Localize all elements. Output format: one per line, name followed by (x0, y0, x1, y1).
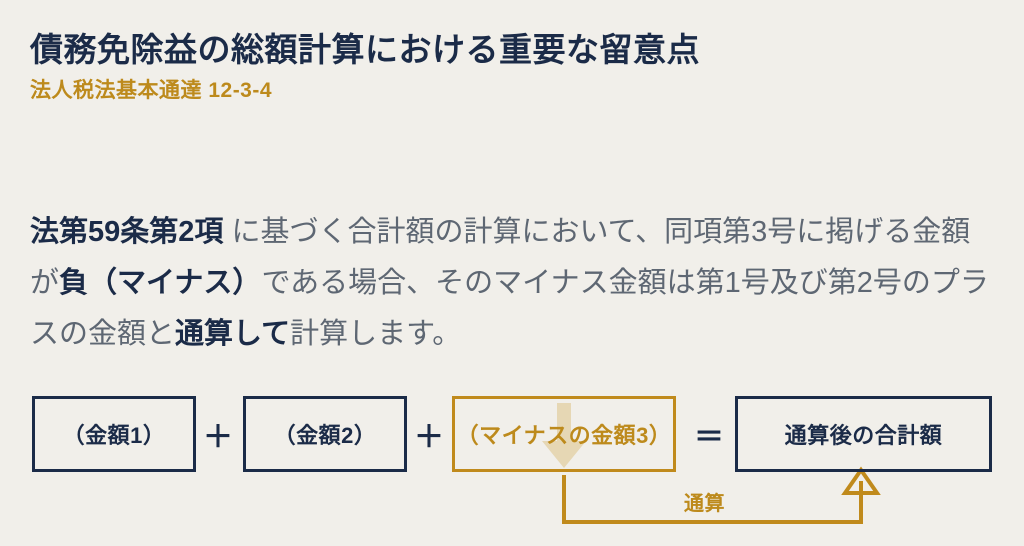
slide-root: 債務免除益の総額計算における重要な留意点 法人税法基本通達 12-3-4 法第5… (0, 0, 1024, 546)
formula-box-amount2-label: （金額2） (274, 418, 377, 450)
formula-row: （金額1） ＋ （金額2） ＋ （マイナスの金額3） ＝ 通算後の合計額 (0, 396, 1024, 476)
formula-box-minus3: （マイナスの金額3） (452, 396, 676, 472)
body-text-3: 計算します。 (290, 318, 461, 350)
operator-equals: ＝ (692, 396, 726, 472)
connector-label: 通算 (684, 487, 725, 516)
body-emphasis-negative: 負（マイナス） (59, 267, 261, 299)
operator-plus-1: ＋ (201, 396, 235, 472)
formula-box-amount1: （金額1） (32, 396, 196, 472)
formula-box-amount1-label: （金額1） (63, 418, 166, 450)
body-emphasis-offset: 通算して (175, 318, 290, 350)
formula-box-total: 通算後の合計額 (735, 396, 992, 472)
formula-box-amount2: （金額2） (243, 396, 407, 472)
formula-box-minus3-label: （マイナスの金額3） (457, 418, 672, 450)
page-title: 債務免除益の総額計算における重要な留意点 (30, 30, 994, 70)
operator-plus-2: ＋ (412, 396, 446, 472)
body-paragraph: 法第59条第2項 に基づく合計額の計算において、同項第3号に掲げる金額が負（マイ… (30, 207, 998, 360)
formula-box-total-label: 通算後の合計額 (785, 418, 943, 450)
page-subtitle: 法人税法基本通達 12-3-4 (30, 78, 994, 103)
header: 債務免除益の総額計算における重要な留意点 法人税法基本通達 12-3-4 (30, 30, 994, 103)
body-emphasis-article: 法第59条第2項 (30, 216, 223, 248)
